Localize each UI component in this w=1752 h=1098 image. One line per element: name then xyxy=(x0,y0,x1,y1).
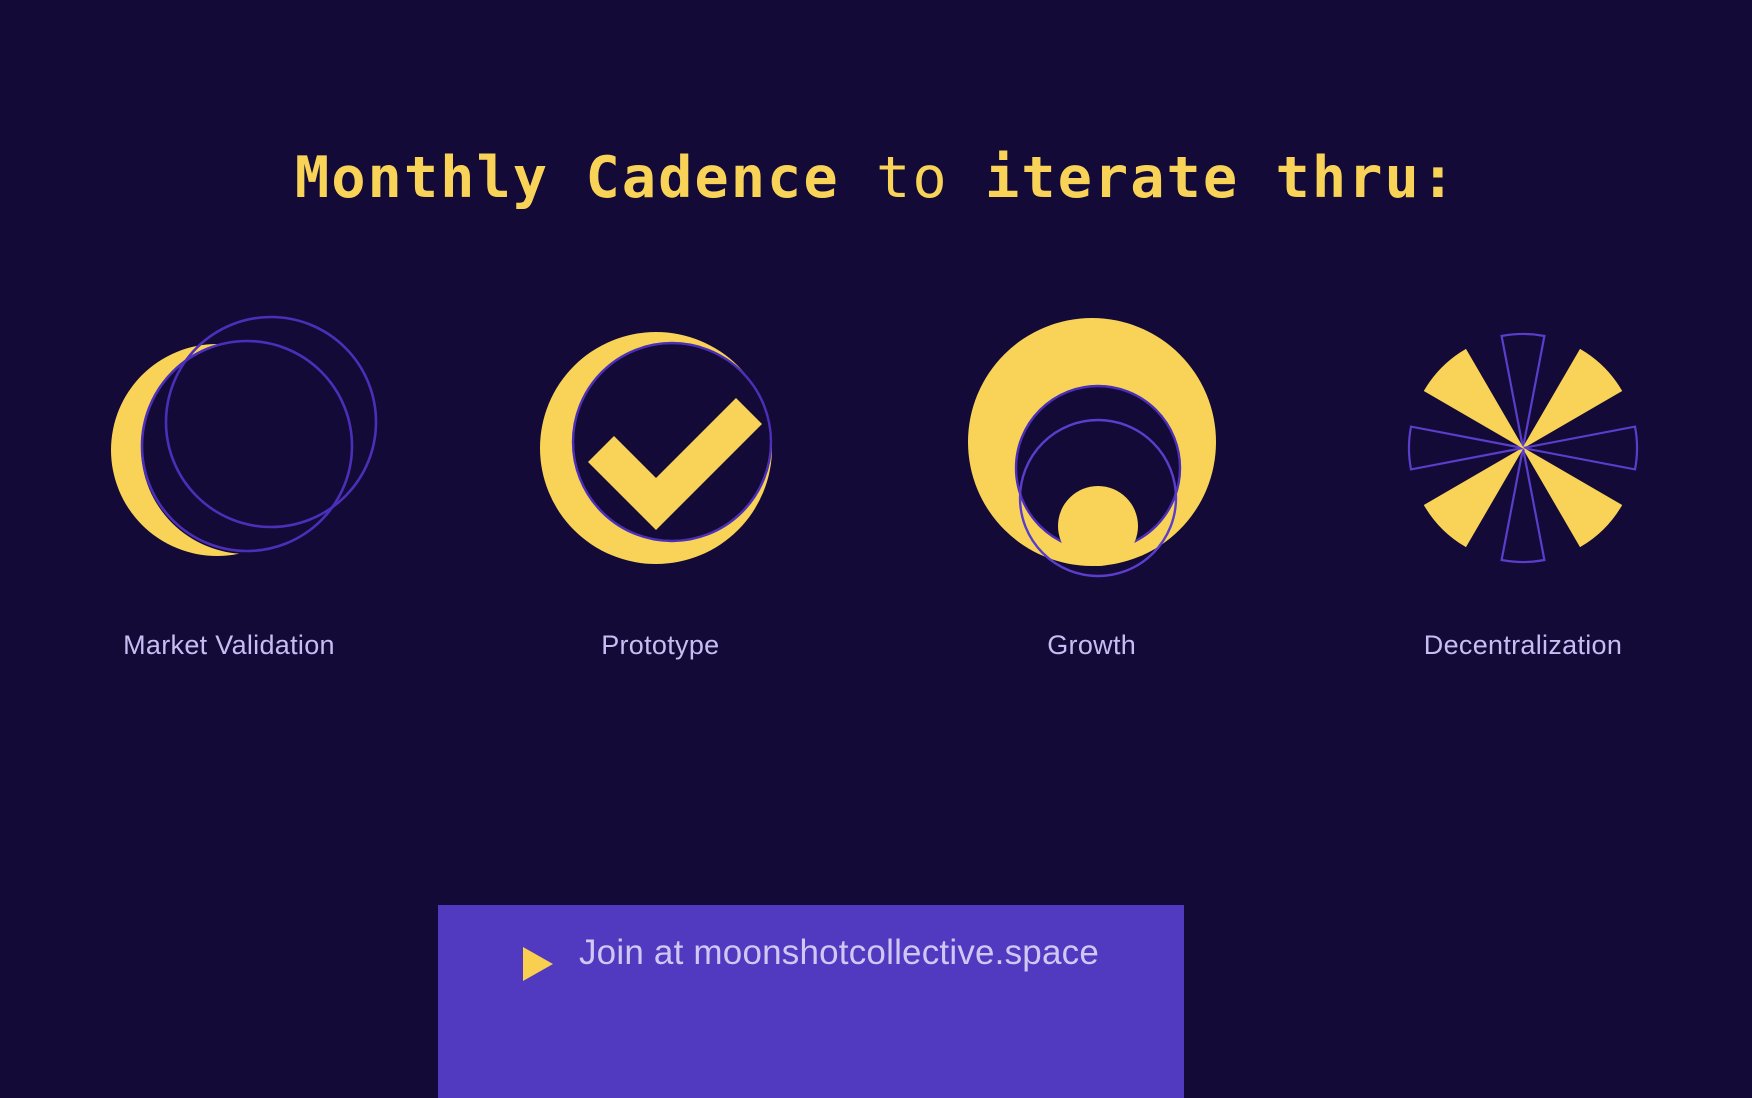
stage-item-prototype[interactable]: Prototype xyxy=(511,318,809,661)
stage-item-decentralization[interactable]: Decentralization xyxy=(1374,318,1672,661)
stage-label: Decentralization xyxy=(1424,630,1622,661)
page-title-part-3: iterate thru: xyxy=(985,145,1457,211)
stage-label: Prototype xyxy=(601,630,719,661)
page-title-gap-1 xyxy=(840,145,876,211)
page-title: Monthly Cadence to iterate thru: xyxy=(0,150,1752,207)
join-cta-label: Join at moonshotcollective.space xyxy=(579,931,1099,975)
join-cta-button[interactable]: Join at moonshotcollective.space xyxy=(438,905,1184,1098)
page-title-gap-2 xyxy=(949,145,985,211)
crescent-ring-checkmark-icon xyxy=(530,318,790,578)
concentric-circles-icon xyxy=(962,318,1222,578)
stage-item-growth[interactable]: Growth xyxy=(943,318,1241,661)
pinwheel-segments-icon xyxy=(1393,318,1653,578)
stage-list: Market Validation xyxy=(80,318,1672,718)
page-title-part-2: to xyxy=(876,145,949,211)
stage-item-market-validation[interactable]: Market Validation xyxy=(80,318,378,661)
stage-label: Growth xyxy=(1047,630,1136,661)
stage-label: Market Validation xyxy=(123,630,335,661)
slide-canvas: Monthly Cadence to iterate thru: xyxy=(0,0,1752,1098)
crescent-moon-overlapping-circles-icon xyxy=(99,318,359,578)
page-title-part-1: Monthly Cadence xyxy=(295,145,840,211)
play-triangle-icon xyxy=(523,947,553,981)
